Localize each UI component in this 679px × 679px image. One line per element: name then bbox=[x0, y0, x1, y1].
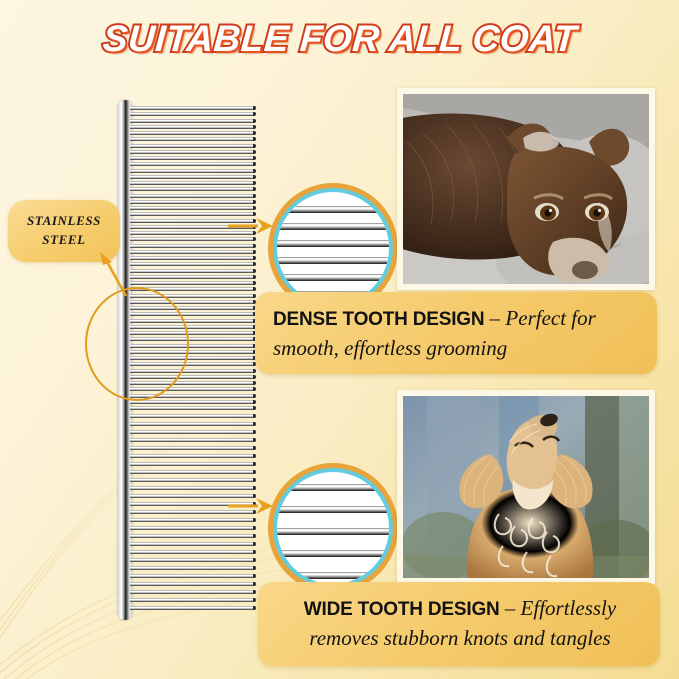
comb-tooth-dense bbox=[130, 125, 254, 129]
comb-tooth-dense bbox=[130, 137, 254, 141]
dense-tooth-caption-line1: DENSE TOOTH DESIGN – Perfect for bbox=[273, 304, 641, 334]
comb-tooth-dense bbox=[130, 187, 254, 191]
comb-tooth-dense bbox=[130, 119, 254, 123]
wide-tooth-body-line1: Effortlessly bbox=[521, 596, 617, 620]
comb-tooth-dense bbox=[130, 269, 254, 273]
dense-tooth-dash: – bbox=[484, 306, 505, 330]
comb-tooth-dense bbox=[130, 256, 254, 260]
connector-arrow-dense bbox=[228, 216, 274, 241]
comb-tooth-dense bbox=[130, 250, 254, 254]
comb-tooth-wide bbox=[130, 574, 254, 578]
wide-tooth-body-line2: removes stubborn knots and tangles bbox=[276, 624, 644, 654]
wide-tooth-caption-line1: WIDE TOOTH DESIGN – Effortlessly bbox=[276, 594, 644, 624]
dense-tooth-magnifier bbox=[273, 188, 393, 308]
comb-tooth-dense bbox=[130, 206, 254, 210]
dense-tooth-body-line1: Perfect for bbox=[505, 306, 595, 330]
magnifier-tooth bbox=[273, 484, 393, 491]
comb-tooth-wide bbox=[130, 582, 254, 586]
comb-tooth-wide bbox=[130, 486, 254, 490]
comb-tooth-dense bbox=[130, 112, 254, 116]
comb-tooth-wide bbox=[130, 422, 254, 426]
photo-dog-looking-up bbox=[397, 390, 655, 584]
magnifier-tooth bbox=[273, 240, 393, 247]
photo-dog-looking-up-image bbox=[403, 396, 649, 578]
comb-tooth-wide bbox=[130, 430, 254, 434]
magnifier-tooth bbox=[273, 550, 393, 557]
comb-tooth-wide bbox=[130, 590, 254, 594]
page-title: SUITABLE FOR ALL COAT bbox=[101, 18, 578, 60]
magnifier-tooth bbox=[273, 528, 393, 535]
comb-tooth-wide bbox=[130, 526, 254, 530]
comb-tooth-dense bbox=[130, 175, 254, 179]
comb-tooth-dense bbox=[130, 150, 254, 154]
magnifier-tooth bbox=[273, 206, 393, 213]
comb-tooth-wide bbox=[130, 606, 254, 610]
photo-dog-on-couch bbox=[397, 88, 655, 290]
wide-tooth-caption: WIDE TOOTH DESIGN – Effortlessly removes… bbox=[258, 582, 660, 666]
comb-tooth-dense bbox=[130, 131, 254, 135]
wide-tooth-magnifier bbox=[273, 468, 393, 588]
comb-tooth-dense bbox=[130, 262, 254, 266]
comb-tooth-dense bbox=[130, 156, 254, 160]
comb-tooth-wide bbox=[130, 462, 254, 466]
comb-tooth-dense bbox=[130, 181, 254, 185]
magnifier-tooth bbox=[273, 223, 393, 230]
comb-tooth-wide bbox=[130, 558, 254, 562]
comb-tooth-dense bbox=[130, 162, 254, 166]
magnifier-tooth bbox=[273, 572, 393, 579]
comb-tooth-wide bbox=[130, 542, 254, 546]
connector-arrow-wide bbox=[228, 496, 274, 521]
magnifier-tooth bbox=[273, 257, 393, 264]
comb-tooth-dense bbox=[130, 275, 254, 279]
comb-tooth-wide bbox=[130, 438, 254, 442]
comb-tooth-dense bbox=[130, 144, 254, 148]
wide-tooth-dash: – bbox=[500, 596, 521, 620]
comb-tooth-wide bbox=[130, 566, 254, 570]
comb-tooth-wide bbox=[130, 414, 254, 418]
comb-tooth-wide bbox=[130, 534, 254, 538]
spine-highlight-ellipse bbox=[85, 287, 189, 401]
dense-tooth-caption: DENSE TOOTH DESIGN – Perfect for smooth,… bbox=[255, 292, 657, 374]
magnifier-tooth bbox=[273, 274, 393, 281]
comb-tooth-dense bbox=[130, 244, 254, 248]
comb-tooth-wide bbox=[130, 598, 254, 602]
comb-tooth-dense bbox=[130, 106, 254, 110]
comb-tooth-wide bbox=[130, 446, 254, 450]
dense-tooth-lead: DENSE TOOTH DESIGN bbox=[273, 309, 484, 330]
comb-tooth-wide bbox=[130, 470, 254, 474]
title-banner: SUITABLE FOR ALL COAT bbox=[0, 18, 679, 60]
comb-tooth-dense bbox=[130, 169, 254, 173]
comb-tooth-dense bbox=[130, 281, 254, 285]
steel-badge-line2: STEEL bbox=[42, 231, 85, 250]
wide-tooth-lead: WIDE TOOTH DESIGN bbox=[304, 599, 500, 620]
comb-tooth-wide bbox=[130, 406, 254, 410]
comb-tooth-wide bbox=[130, 550, 254, 554]
infographic-canvas: SUITABLE FOR ALL COAT STAINLESS STEEL bbox=[0, 0, 679, 679]
comb-tooth-dense bbox=[130, 400, 254, 404]
photo-dog-on-couch-image bbox=[403, 94, 649, 284]
comb-tooth-dense bbox=[130, 200, 254, 204]
comb-tooth-wide bbox=[130, 478, 254, 482]
magnifier-tooth bbox=[273, 506, 393, 513]
dense-tooth-body-line2: smooth, effortless grooming bbox=[273, 334, 641, 364]
steel-badge-line1: STAINLESS bbox=[27, 212, 101, 231]
comb-tooth-dense bbox=[130, 194, 254, 198]
comb-tooth-wide bbox=[130, 454, 254, 458]
